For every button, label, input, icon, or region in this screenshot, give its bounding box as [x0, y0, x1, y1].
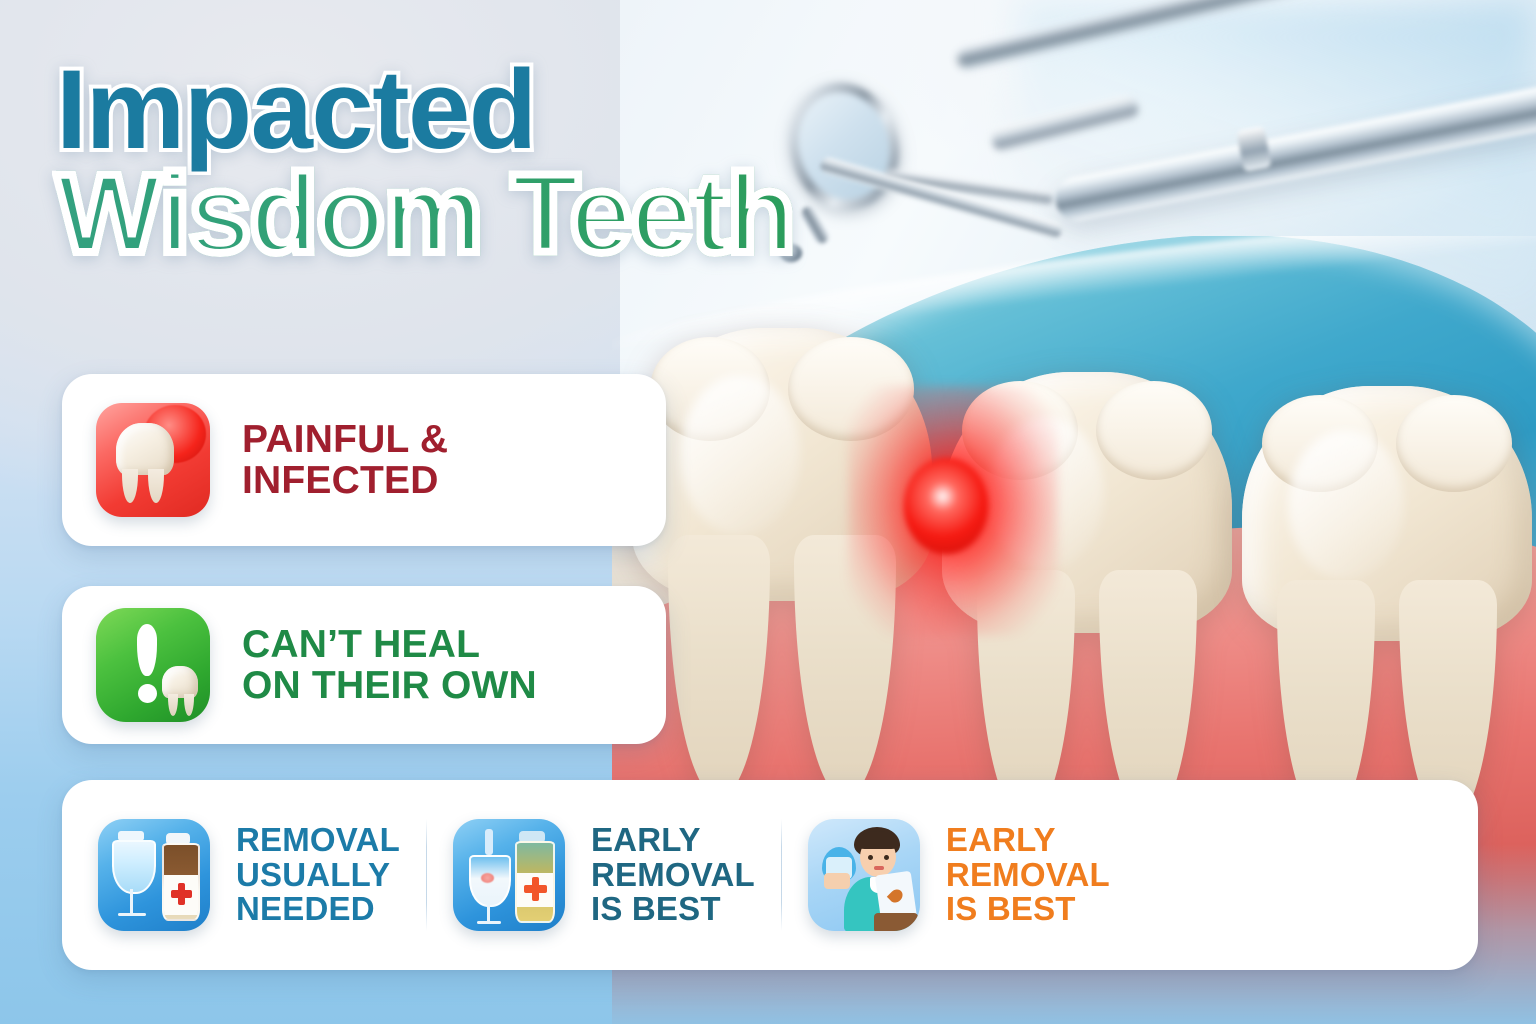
segment-dentist-label: EARLY REMOVAL IS BEST: [946, 823, 1110, 928]
title-line-1: Impacted: [56, 58, 936, 162]
infected-tooth-icon: [96, 403, 210, 517]
segment-early-label: EARLY REMOVAL IS BEST: [591, 823, 755, 928]
segment-removal-label: REMOVAL USUALLY NEEDED: [236, 823, 400, 928]
card-cant-heal[interactable]: CAN’T HEAL ON THEIR OWN: [62, 586, 666, 744]
infographic-canvas: Impacted Wisdom Teeth PAINFUL & INFECTED…: [0, 0, 1536, 1024]
warning-tooth-icon: [96, 608, 210, 722]
segment-removal-usually-needed[interactable]: REMOVAL USUALLY NEEDED: [98, 780, 400, 970]
card-painful-infected-label: PAINFUL & INFECTED: [242, 419, 448, 502]
iv-drip-medicine-bottle-icon: [98, 819, 210, 931]
card-painful-infected[interactable]: PAINFUL & INFECTED: [62, 374, 666, 546]
exclamation-dot: [138, 684, 157, 703]
segment-divider: [426, 819, 427, 931]
card-cant-heal-label: CAN’T HEAL ON THEIR OWN: [242, 624, 537, 707]
title-line-2: Wisdom Teeth: [56, 162, 936, 266]
segment-early-removal-orange[interactable]: EARLY REMOVAL IS BEST: [808, 780, 1110, 970]
segment-divider: [781, 819, 782, 931]
inflammation-core: [904, 458, 988, 554]
page-title: Impacted Wisdom Teeth: [56, 58, 936, 266]
dentist-with-chart-icon: [808, 819, 920, 931]
exclamation-stem: [137, 624, 157, 676]
molar-tooth: [1242, 386, 1532, 826]
iv-drip-medicine-bottle-icon: [453, 819, 565, 931]
card-bottom-row[interactable]: REMOVAL USUALLY NEEDED EARLY REMOVAL IS …: [62, 780, 1478, 970]
segment-early-removal-blue[interactable]: EARLY REMOVAL IS BEST: [453, 780, 755, 970]
